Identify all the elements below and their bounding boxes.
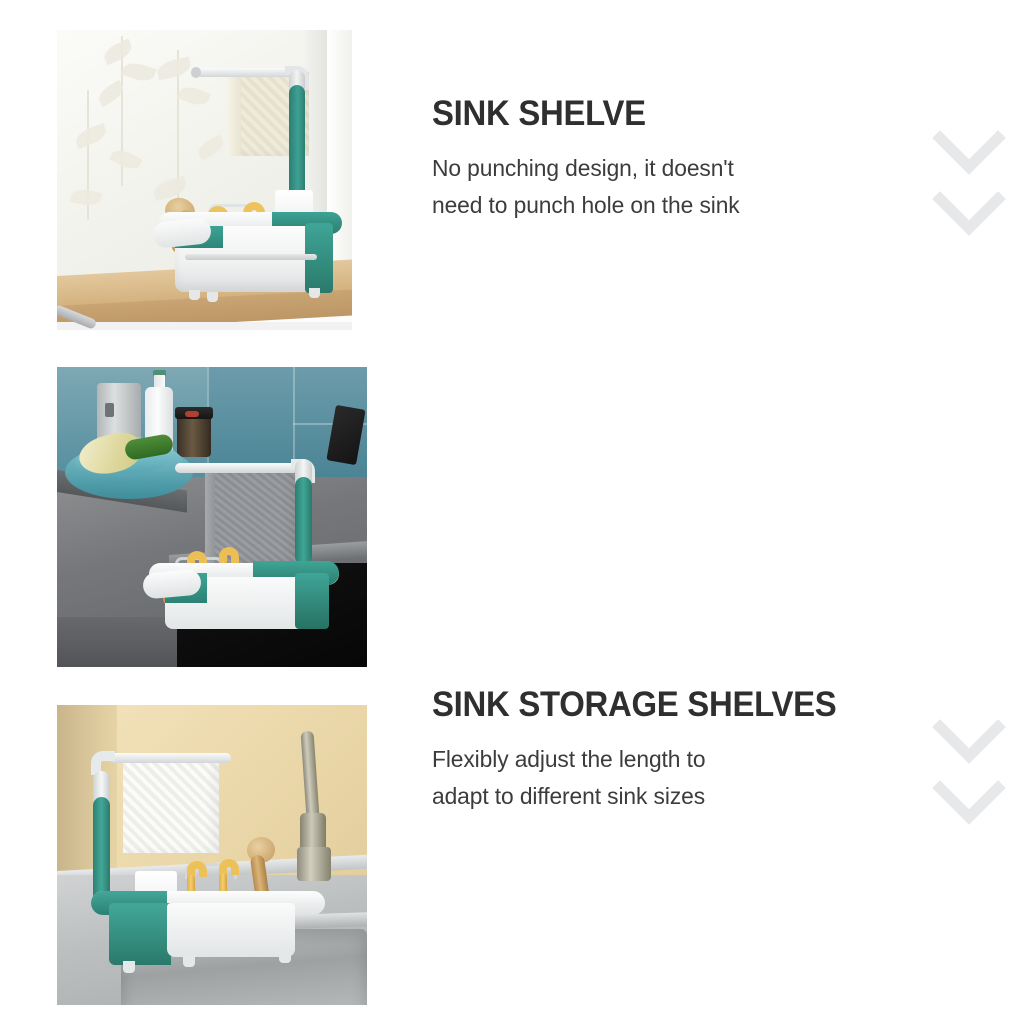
feature-desc-1-line-2: need to punch hole on the sink xyxy=(432,187,936,224)
spice-jar xyxy=(177,413,211,457)
caddy-basket xyxy=(167,903,295,957)
product-photo-3 xyxy=(57,705,367,1005)
product-infographic: SINK SHELVE No punching design, it doesn… xyxy=(0,0,1024,1024)
feature-row-2: SINK STORAGE SHELVES Flexibly adjust the… xyxy=(0,367,1024,667)
caddy-foot xyxy=(309,288,320,298)
chevron-group-1 xyxy=(932,126,1006,239)
caddy-foot xyxy=(207,292,218,302)
jar-label xyxy=(185,411,199,417)
feature-title-1: SINK SHELVE xyxy=(432,96,921,133)
towel-fold xyxy=(205,467,215,567)
photo-3-scene xyxy=(57,705,367,1005)
photo-2-scene xyxy=(57,367,367,667)
caddy-foot xyxy=(183,955,195,967)
product-photo-2 xyxy=(57,367,367,667)
towel-bar xyxy=(175,463,299,473)
countertop xyxy=(57,322,352,330)
towel-bar-tip xyxy=(191,67,201,78)
chevron-down-icon xyxy=(932,126,1006,178)
feature-row-3: SINK DRAINING RACK Can be a large capaci… xyxy=(0,705,1024,1010)
caddy-foot xyxy=(189,290,200,300)
towel-bar xyxy=(109,753,231,763)
faucet-base xyxy=(297,847,331,881)
caddy-foot xyxy=(279,951,291,963)
chevron-down-icon xyxy=(932,187,1006,239)
caddy-basket-teal-right xyxy=(295,573,329,629)
teal-post xyxy=(295,477,312,565)
feature-row-1: SINK SHELVE No punching design, it doesn… xyxy=(0,30,1024,330)
product-photo-1 xyxy=(57,30,352,330)
caddy-foot xyxy=(123,961,135,973)
feature-desc-1-line-1: No punching design, it doesn't xyxy=(432,150,936,187)
photo-1-scene xyxy=(57,30,352,330)
canister-slot xyxy=(105,403,114,417)
caddy-rail xyxy=(185,254,317,260)
teal-post xyxy=(93,797,110,903)
towel-fold xyxy=(227,72,241,156)
towel-bar xyxy=(197,68,297,77)
caddy-basket-teal-left xyxy=(109,903,171,965)
feature-text-1: SINK SHELVE No punching design, it doesn… xyxy=(432,96,952,224)
hanging-towel xyxy=(123,757,219,853)
feature-desc-1: No punching design, it doesn't need to p… xyxy=(432,150,936,224)
